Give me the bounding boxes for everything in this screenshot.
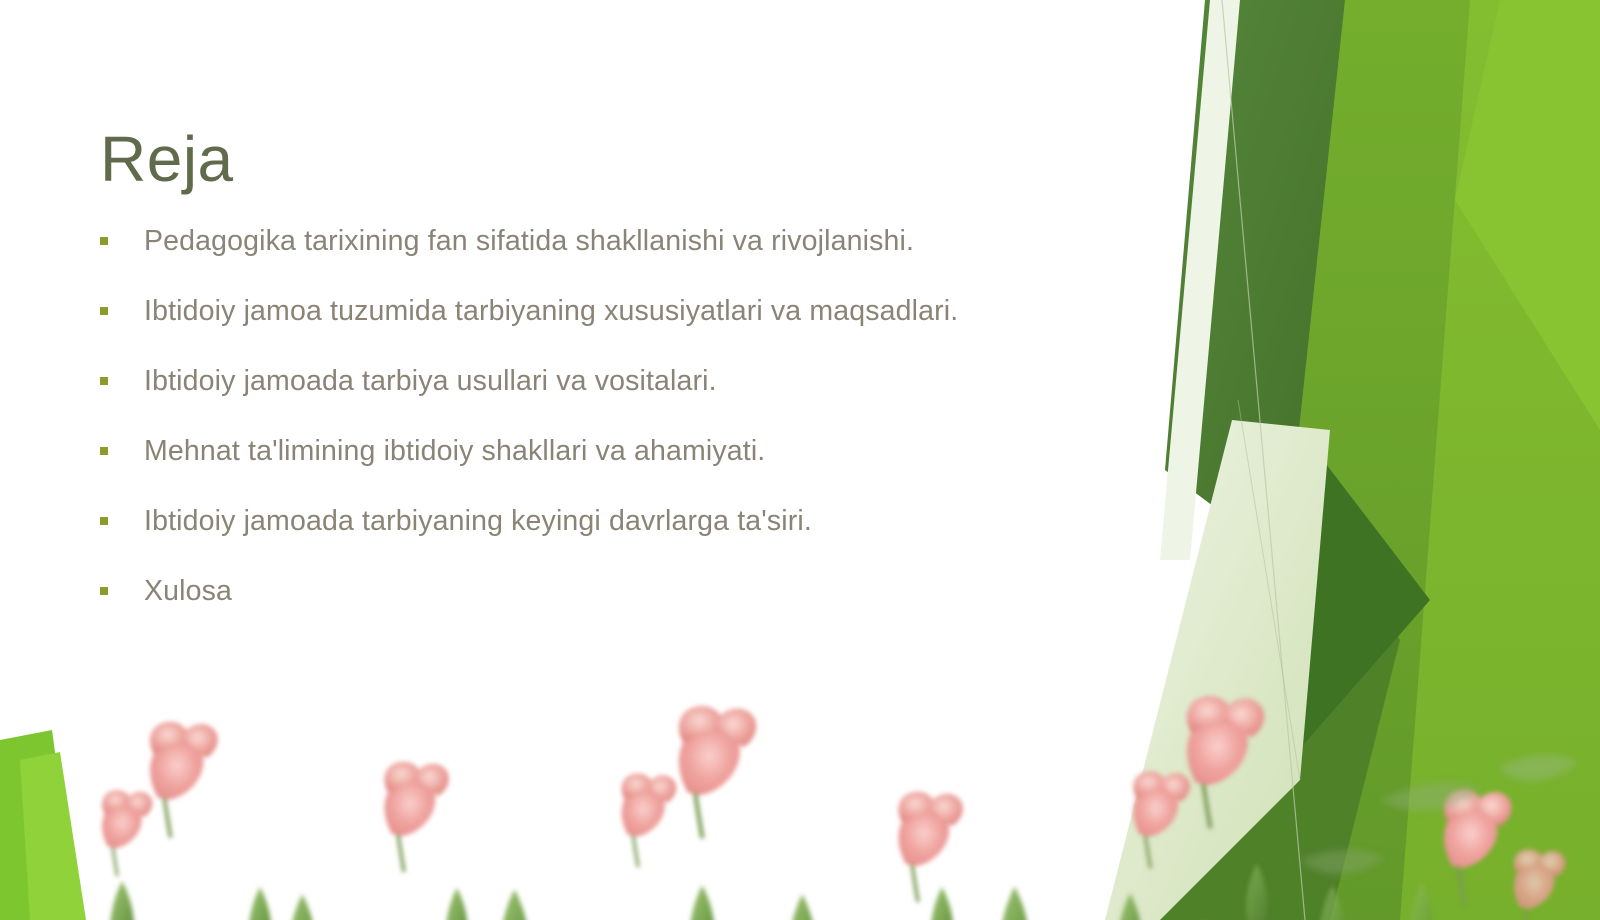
- blurred-leaf-accents: [1300, 755, 1578, 874]
- page-title: Reja: [100, 127, 234, 191]
- bullet-square-icon: [100, 377, 108, 385]
- plant-sprig: [1365, 883, 1477, 920]
- bullet-square-icon: [100, 517, 108, 525]
- plant-sprig: [1266, 885, 1396, 920]
- bullet-list: Pedagogika tarixining fan sifatida shakl…: [96, 206, 1196, 626]
- list-item: Mehnat ta'limining ibtidoiy shakllari va…: [96, 416, 1196, 486]
- list-item-label: Ibtidoiy jamoa tuzumida tarbiyaning xusu…: [144, 295, 958, 328]
- list-item-label: Ibtidoiy jamoada tarbiya usullari va vos…: [144, 365, 717, 398]
- green-shape-forest-triangle: [1290, 430, 1430, 760]
- list-item: Ibtidoiy jamoada tarbiyaning keyingi dav…: [96, 486, 1196, 556]
- list-item: Ibtidoiy jamoada tarbiya usullari va vos…: [96, 346, 1196, 416]
- bullet-square-icon: [100, 237, 108, 245]
- diagonal-separator-line-2: [1238, 400, 1300, 780]
- green-shape-lime-top: [1455, 0, 1600, 430]
- bullet-square-icon: [100, 587, 108, 595]
- pink-flower: [1444, 790, 1512, 906]
- list-item: Xulosa: [96, 556, 1196, 626]
- green-shape-far-right: [1330, 0, 1600, 920]
- pink-flower: [1514, 849, 1566, 920]
- list-item-label: Pedagogika tarixining fan sifatida shakl…: [144, 225, 914, 258]
- slide-content: Reja Pedagogika tarixining fan sifatida …: [0, 0, 1210, 920]
- diagonal-separator-line: [1222, 0, 1305, 920]
- presentation-slide: Reja Pedagogika tarixining fan sifatida …: [0, 0, 1600, 920]
- list-item: Ibtidoiy jamoa tuzumida tarbiyaning xusu…: [96, 276, 1196, 346]
- bullet-square-icon: [100, 447, 108, 455]
- list-item-label: Ibtidoiy jamoada tarbiyaning keyingi dav…: [144, 505, 812, 538]
- list-item-label: Mehnat ta'limining ibtidoiy shakllari va…: [144, 435, 765, 468]
- bullet-square-icon: [100, 307, 108, 315]
- plant-sprig: [1203, 864, 1309, 920]
- list-item: Pedagogika tarixining fan sifatida shakl…: [96, 206, 1196, 276]
- green-shape-mid-column: [1175, 0, 1470, 920]
- list-item-label: Xulosa: [144, 575, 232, 608]
